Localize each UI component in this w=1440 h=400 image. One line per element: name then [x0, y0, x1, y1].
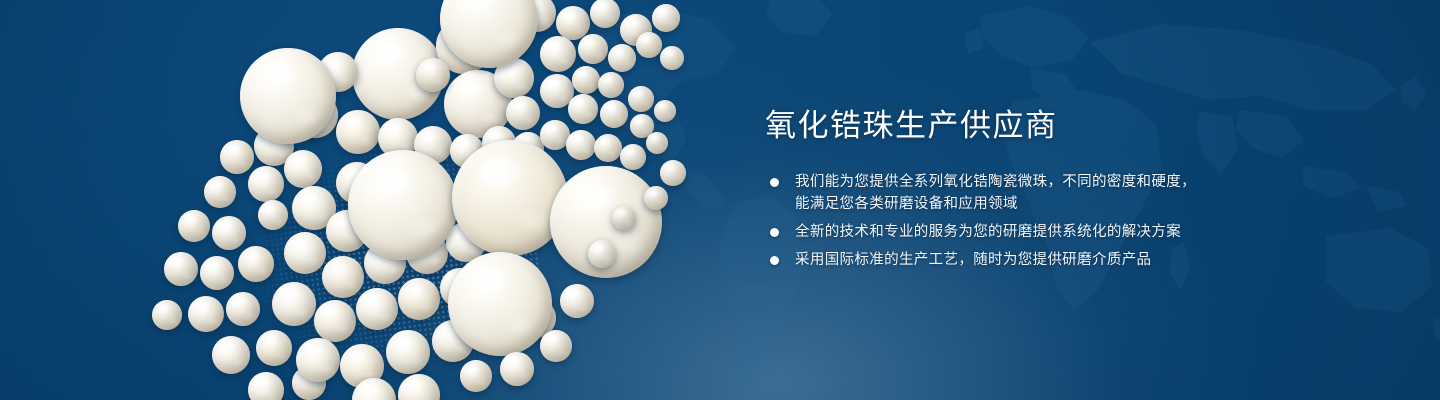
list-item-line: 全新的技术和专业的服务为您的研磨提供系统化的解决方案 — [795, 221, 1325, 243]
list-item: 采用国际标准的生产工艺，随时为您提供研磨介质产品 — [765, 249, 1325, 271]
hero-banner: 氧化锆珠生产供应商 我们能为您提供全系列氧化锆陶瓷微珠，不同的密度和硬度， 能满… — [0, 0, 1440, 400]
feature-list: 我们能为您提供全系列氧化锆陶瓷微珠，不同的密度和硬度， 能满足您各类研磨设备和应… — [765, 171, 1325, 271]
list-item-line: 能满足您各类研磨设备和应用领域 — [795, 193, 1325, 215]
bullet-dot-icon — [770, 178, 779, 187]
page-title: 氧化锆珠生产供应商 — [765, 108, 1325, 144]
list-item: 我们能为您提供全系列氧化锆陶瓷微珠，不同的密度和硬度， 能满足您各类研磨设备和应… — [765, 171, 1325, 215]
bullet-dot-icon — [770, 228, 779, 237]
list-item-line: 采用国际标准的生产工艺，随时为您提供研磨介质产品 — [795, 249, 1325, 271]
banner-copy: 氧化锆珠生产供应商 我们能为您提供全系列氧化锆陶瓷微珠，不同的密度和硬度， 能满… — [765, 108, 1325, 271]
bullet-dot-icon — [770, 256, 779, 265]
list-item: 全新的技术和专业的服务为您的研磨提供系统化的解决方案 — [765, 221, 1325, 243]
list-item-line: 我们能为您提供全系列氧化锆陶瓷微珠，不同的密度和硬度， — [795, 171, 1325, 193]
